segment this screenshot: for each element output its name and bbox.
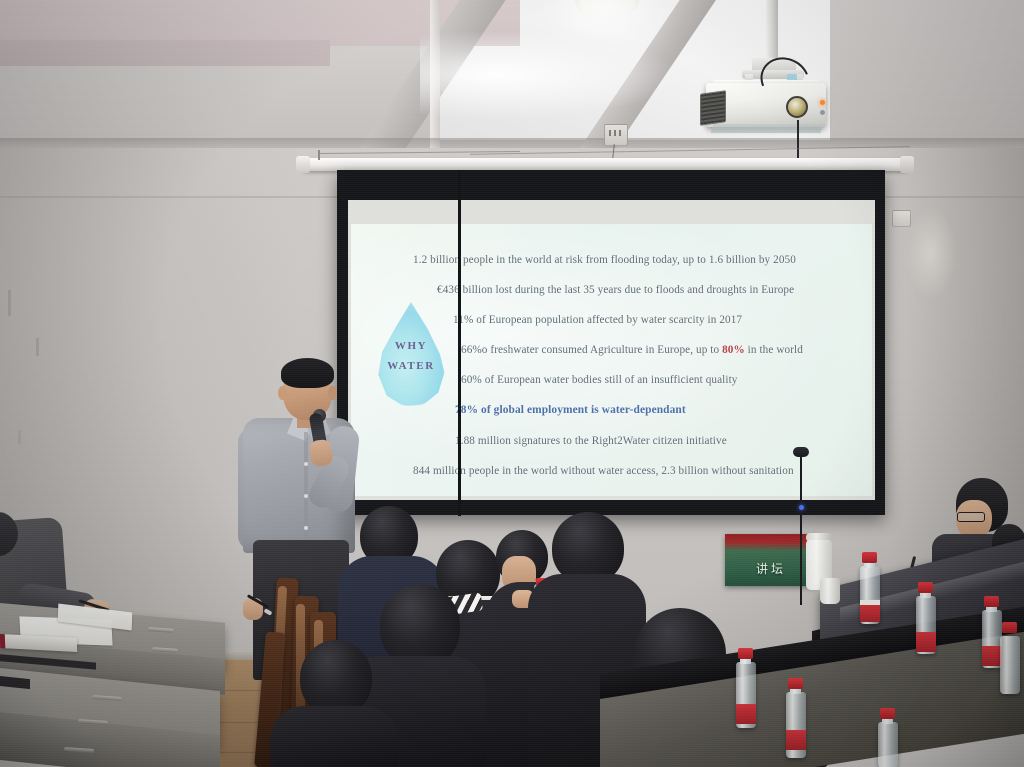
- slide-line-3: 11% of European population affected by w…: [453, 314, 742, 326]
- wall-banner: 讲坛: [725, 534, 817, 586]
- projector-led-status: [820, 110, 825, 115]
- presenter-ear-right: [328, 386, 337, 400]
- slide-line-4-pre: 66%o freshwater consumed Agriculture in …: [461, 344, 722, 356]
- presenter-hair: [281, 358, 334, 388]
- water-bottle-cap: [984, 596, 999, 607]
- audience-body: [270, 706, 398, 767]
- gooseneck-microphone-icon: [793, 447, 809, 457]
- cup[interactable]: [820, 578, 840, 604]
- water-bottle-cap: [788, 678, 803, 689]
- projector-underplate: [711, 124, 824, 133]
- eyeglasses-icon: [957, 512, 985, 522]
- water-bottle-cap: [862, 552, 877, 563]
- wall-mark: [8, 290, 11, 316]
- microphone-stand: [800, 455, 802, 605]
- projector-vent-icon: [700, 90, 726, 126]
- water-bottle-label-stripe: [860, 600, 880, 605]
- water-bottle-cap: [738, 648, 753, 659]
- presenter-shirt-placket: [304, 432, 308, 550]
- slide-line-4-post: in the world: [745, 344, 803, 356]
- slide-line-7: 1.88 million signatures to the Right2Wat…: [455, 435, 727, 447]
- droplet-label-why: WHY: [373, 340, 449, 352]
- wall-socket[interactable]: [604, 124, 628, 146]
- wall-mark: [18, 430, 21, 444]
- banner-text: 讲坛: [725, 560, 817, 577]
- slide-line-1: 1.2 billion people in the world at risk …: [413, 254, 796, 266]
- presenter-shirt-button: [304, 462, 308, 466]
- slide-line-4: 66%o freshwater consumed Agriculture in …: [461, 344, 803, 356]
- lecture-hall-photo: WHY WATER 1.2 billion people in the worl…: [0, 0, 1024, 767]
- water-bottle[interactable]: [1000, 636, 1020, 694]
- presenter-shirt-button: [304, 526, 308, 530]
- wall-switch[interactable]: [892, 210, 911, 227]
- ceiling-glow: [420, 30, 680, 120]
- ceiling-slab-lower: [0, 40, 330, 66]
- water-droplet-icon: WHY WATER: [373, 302, 449, 406]
- audience-head: [300, 640, 372, 716]
- water-bottle-cap: [880, 708, 895, 719]
- water-bottle[interactable]: [878, 722, 898, 767]
- slide-line-8: 844 million people in the world without …: [413, 465, 794, 477]
- droplet-label-water: WATER: [373, 360, 449, 372]
- water-bottle-cap: [1002, 622, 1017, 633]
- projector-led-power: [820, 100, 825, 105]
- water-bottle-label: [786, 730, 806, 750]
- presenter-hand-holding-mic: [308, 439, 333, 468]
- slide-line-2: €436 billion lost during the last 35 yea…: [437, 284, 794, 296]
- water-bottle-label: [736, 704, 756, 724]
- wall-stain: [905, 205, 957, 301]
- water-bottle-label: [982, 646, 1002, 666]
- water-bottle-cap: [918, 582, 933, 593]
- screen-roller-cap-right: [900, 156, 914, 173]
- slide-line-6: 78% of global employment is water-depend…: [455, 404, 686, 416]
- presenter-ear-left: [278, 386, 287, 400]
- wall-mark: [36, 338, 39, 356]
- water-bottle-label: [916, 632, 936, 652]
- screen-roller-cap-left: [296, 156, 310, 173]
- slide-line-4-highlight: 80%: [722, 344, 745, 356]
- water-bottle-label: [860, 602, 880, 622]
- presenter-shirt-button: [304, 494, 308, 498]
- slide-line-5: 60% of European water bodies still of an…: [461, 374, 738, 386]
- microphone-led: [799, 505, 804, 510]
- cable-over-screen: [458, 170, 461, 516]
- projector-mount-pole: [766, 0, 778, 62]
